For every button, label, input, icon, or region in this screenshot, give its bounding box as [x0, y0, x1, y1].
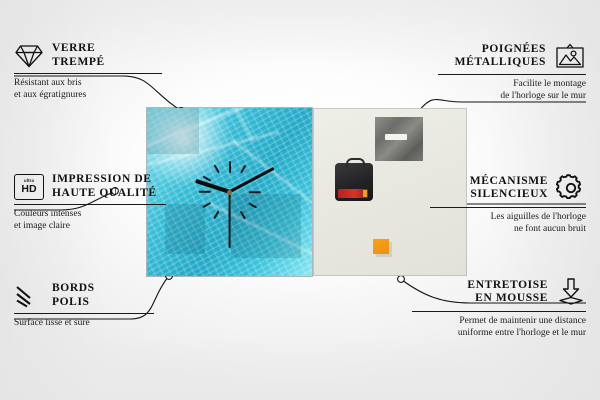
feature-title: BORDS POLIS	[52, 282, 95, 309]
gear-icon	[556, 173, 586, 203]
feature-entretoise-en-mousse: ENTRETOISE EN MOUSSE Permet de maintenir…	[412, 277, 586, 339]
feature-divider	[14, 313, 154, 314]
ultra-hd-badge-icon: ultra HD	[14, 174, 44, 200]
feature-title: ENTRETOISE EN MOUSSE	[467, 279, 548, 306]
metal-hanger-part	[375, 117, 423, 161]
feature-divider	[14, 204, 166, 205]
feature-divider	[14, 73, 162, 74]
clock-face	[147, 108, 312, 276]
feature-impression-haute-qualite: ultra HD IMPRESSION DE HAUTE QUALITÉ Cou…	[14, 173, 166, 232]
polished-edges-icon	[14, 284, 44, 308]
ultra-hd-badge-large-label: HD	[21, 184, 36, 195]
feature-subtitle: Surface lisse et sûre	[14, 318, 154, 330]
picture-hanger-icon	[554, 42, 586, 70]
feature-poignees-metalliques: POIGNÉES MÉTALLIQUES Facilite le montage…	[438, 42, 586, 102]
feature-verre-trempe: VERRE TREMPÉ Résistant aux bris et aux é…	[14, 42, 162, 101]
feature-title: VERRE TREMPÉ	[52, 42, 105, 69]
feature-subtitle: Les aiguilles de l'horloge ne font aucun…	[430, 212, 586, 235]
product-image	[147, 108, 467, 276]
feature-title: IMPRESSION DE HAUTE QUALITÉ	[52, 173, 157, 200]
clock-center-hub	[227, 190, 232, 195]
feature-subtitle: Couleurs intenses et image claire	[14, 209, 166, 232]
feature-subtitle: Facilite le montage de l'horloge sur le …	[438, 79, 586, 102]
quartz-movement-part	[335, 163, 373, 201]
battery	[338, 189, 368, 198]
feature-divider	[430, 207, 586, 208]
hanger-slot	[385, 134, 407, 140]
diamond-icon	[14, 43, 44, 69]
foam-spacer-arrow-icon	[556, 277, 586, 307]
feature-divider	[438, 74, 586, 75]
battery-terminal	[363, 190, 367, 197]
foam-spacer-part	[373, 239, 389, 254]
feature-title: POIGNÉES MÉTALLIQUES	[455, 43, 546, 70]
feature-subtitle: Permet de maintenir une distance uniform…	[412, 316, 586, 339]
feature-mecanisme-silencieux: MÉCANISME SILENCIEUX Les aiguilles de l'…	[430, 173, 586, 235]
infographic-canvas: VERRE TREMPÉ Résistant aux bris et aux é…	[0, 0, 600, 400]
connector-dot-entretoise	[398, 276, 405, 283]
feature-subtitle: Résistant aux bris et aux égratignures	[14, 78, 162, 101]
clock-second-hand	[229, 192, 231, 248]
feature-title: MÉCANISME SILENCIEUX	[470, 175, 548, 202]
feature-divider	[412, 311, 586, 312]
feature-bords-polis: BORDS POLIS Surface lisse et sûre	[14, 282, 154, 330]
movement-hook	[346, 158, 365, 169]
